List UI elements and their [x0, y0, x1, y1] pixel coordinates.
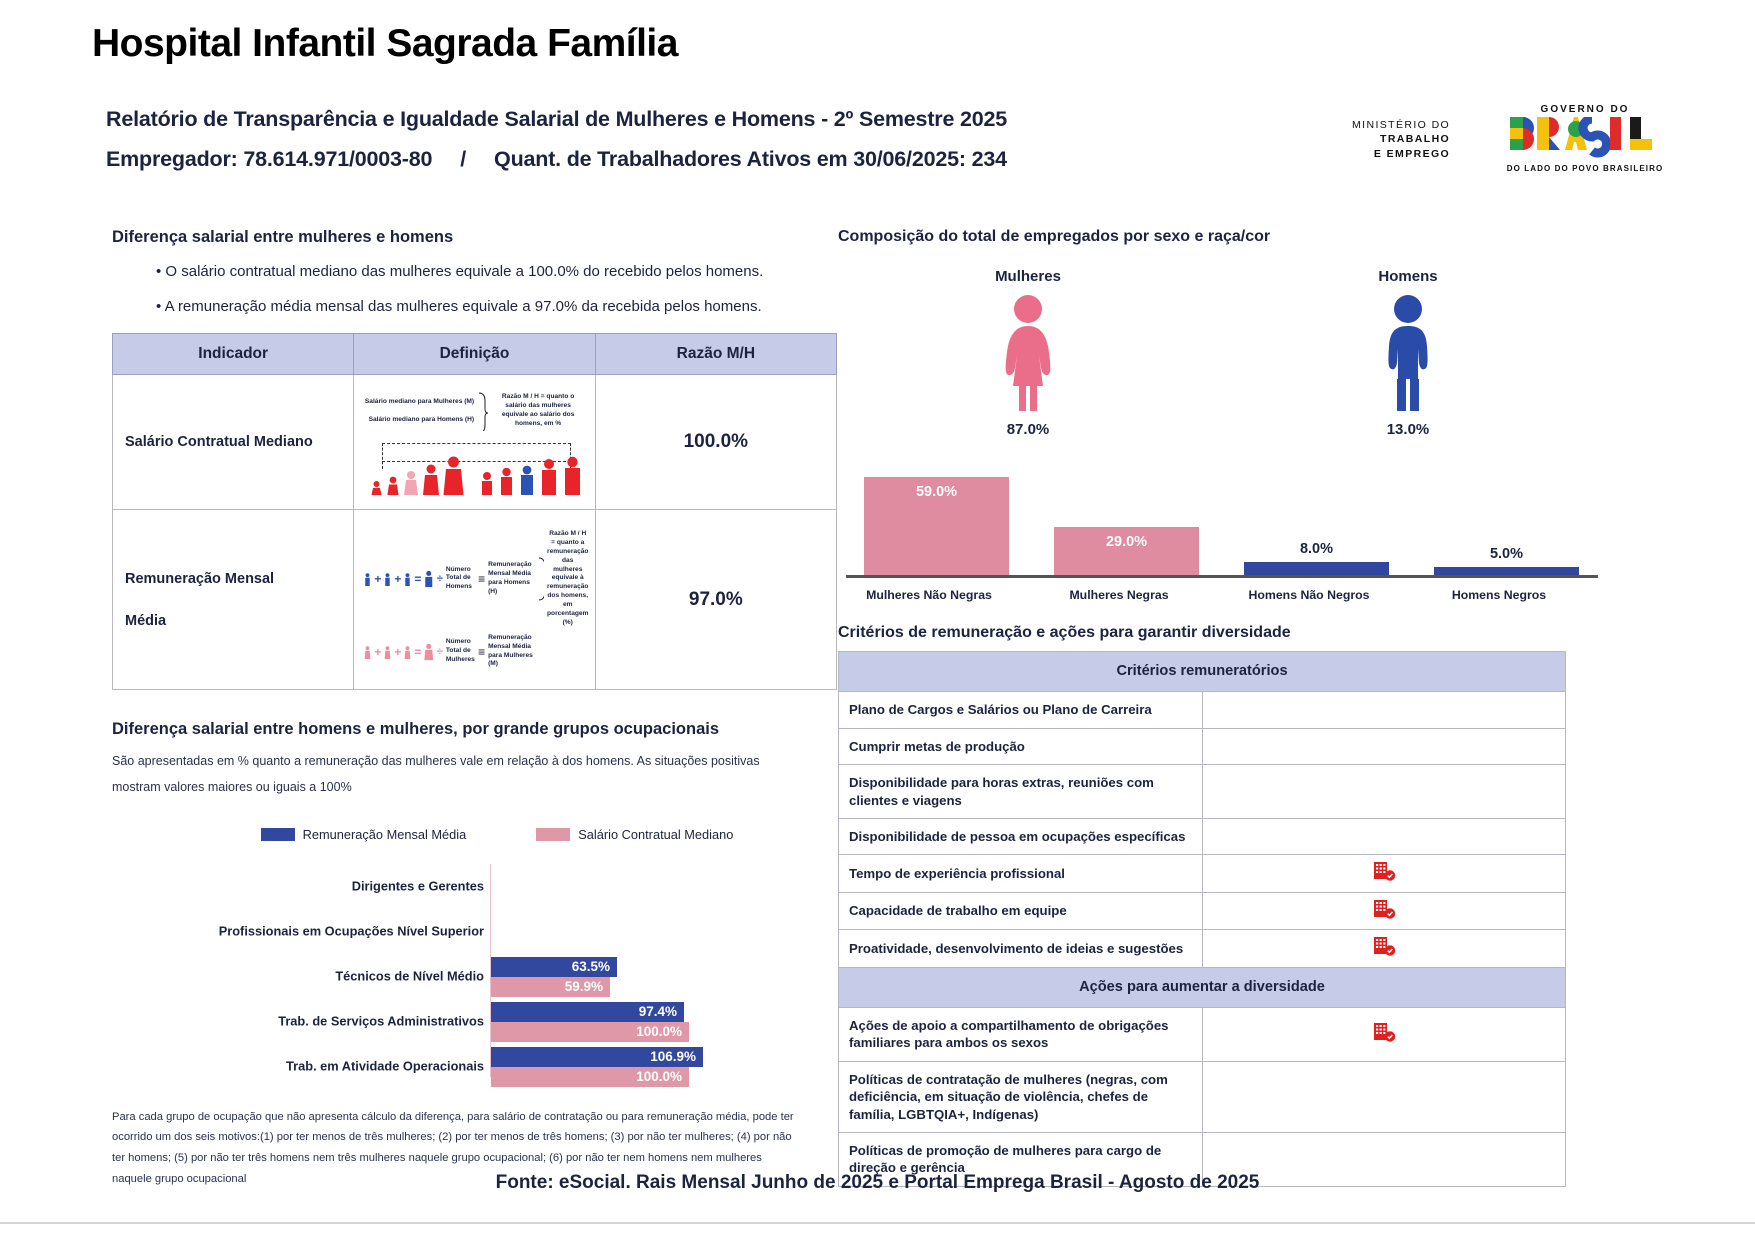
occ-bar-blue-operacionais: 106.9%: [491, 1047, 703, 1067]
criteria-mark-1: [1202, 728, 1566, 764]
col-razao: Razão M/H: [595, 334, 836, 375]
occ-group-administrativos: Trab. de Serviços Administrativos 97.4% …: [112, 999, 852, 1044]
table-row: Políticas de contratação de mulheres (ne…: [839, 1061, 1566, 1132]
building-check-icon: [1372, 859, 1396, 883]
report-title-line: Relatório de Transparência e Igualdade S…: [106, 107, 1186, 132]
occ-bar-blue-tecnicos: 63.5%: [491, 957, 617, 977]
race-bar-homens-nao-negros: 8.0%: [1244, 562, 1389, 575]
person-icon-woman: [370, 469, 383, 495]
active-workers: Quant. de Trabalhadores Ativos em 30/06/…: [494, 147, 1007, 171]
indicator-monthly-pay-line2: Média: [125, 613, 341, 629]
separator: /: [432, 147, 494, 172]
figure-women-pct: 87.0%: [838, 421, 1218, 438]
bullet-median-salary: O salário contratual mediano das mulhere…: [156, 263, 852, 280]
gov-logo-bottom-text: DO LADO DO POVO BRASILEIRO: [1500, 164, 1670, 173]
race-bar-homens-negros: 5.0%: [1434, 567, 1579, 575]
person-icon-man-highlight: [518, 447, 536, 495]
criteria-label-6: Proatividade, desenvolvimento de ideias …: [839, 930, 1203, 967]
definition-monthly-pay: + + = ÷ Número Total de Homens ≡ Remuner…: [354, 510, 595, 690]
definition-median-salary: Salário mediano para Mulheres (M) Salári…: [354, 375, 595, 510]
gov-logo-top-text: GOVERNO DO: [1500, 104, 1670, 115]
ministry-line-2: TRABALHO: [1352, 132, 1450, 146]
race-chart-plot: 59.0% 29.0% 8.0% 5.0%: [846, 478, 1598, 578]
person-icon-man: [404, 568, 411, 590]
occupational-note-line2: mostram valores maiores ou iguais a 100%: [112, 775, 852, 801]
criteria-label-0: Plano de Cargos e Salários ou Plano de C…: [839, 692, 1203, 728]
diversity-label-1: Políticas de contratação de mulheres (ne…: [839, 1061, 1203, 1132]
person-icon-woman: [404, 641, 411, 663]
table-row: Plano de Cargos e Salários ou Plano de C…: [839, 692, 1566, 728]
criteria-mark-2: [1202, 765, 1566, 819]
table-row: Capacidade de trabalho em equipe: [839, 892, 1566, 929]
composition-title: Composição do total de empregados por se…: [838, 228, 1598, 246]
table-row: Remuneração Mensal Média + + = ÷ Número …: [113, 510, 837, 690]
person-icon-man: [364, 568, 371, 590]
occupational-title: Diferença salarial entre homens e mulher…: [112, 720, 852, 739]
person-icon-woman-large: [424, 638, 434, 665]
indicator-median-salary: Salário Contratual Mediano: [113, 375, 354, 510]
woman-figure-icon: [995, 293, 1061, 411]
person-icon-man: [479, 455, 495, 495]
table-header-row: Indicador Definição Razão M/H: [113, 334, 837, 375]
diversity-header-row: Ações para aumentar a diversidade: [839, 967, 1566, 1007]
race-bar-mulheres-negras: 29.0%: [1054, 527, 1199, 575]
occ-bar-pink-operacionais: 100.0%: [491, 1067, 689, 1087]
brace-icon: [478, 391, 488, 431]
occ-group-profissionais: Profissionais em Ocupações Nível Superio…: [112, 909, 852, 954]
occupational-note-line1: São apresentadas em % quanto a remuneraç…: [112, 749, 852, 775]
person-icon-man: [562, 437, 583, 495]
person-icon-woman: [384, 641, 391, 663]
diversity-mark-0: [1202, 1007, 1566, 1061]
race-label-3: Homens Negros: [1424, 588, 1574, 602]
page-title: Hospital Infantil Sagrada Família: [92, 22, 678, 66]
race-bar-group-2: 8.0%: [1244, 562, 1389, 575]
race-bar-group-1: 29.0%: [1054, 527, 1199, 575]
indicator-definition-table: Indicador Definição Razão M/H Salário Co…: [112, 333, 837, 690]
figure-men-label: Homens: [1218, 268, 1598, 285]
occ-bar-pink-tecnicos: 59.9%: [491, 977, 610, 997]
ministry-line-3: E EMPREGO: [1352, 147, 1450, 161]
occupational-note: São apresentadas em % quanto a remuneraç…: [112, 749, 852, 800]
employer-cnpj: Empregador: 78.614.971/0003-80: [106, 147, 432, 171]
occ-label-profissionais: Profissionais em Ocupações Nível Superio…: [219, 924, 484, 939]
occupational-legend: Remuneração Mensal Média Salário Contrat…: [112, 827, 852, 842]
col-definicao: Definição: [354, 334, 595, 375]
composition-figures: Mulheres 87.0% Homens 13.0%: [838, 268, 1598, 438]
criteria-label-1: Cumprir metas de produção: [839, 728, 1203, 764]
criteria-label-5: Capacidade de trabalho em equipe: [839, 892, 1203, 929]
wage-gap-bullets: O salário contratual mediano das mulhere…: [112, 263, 852, 315]
figure-men: Homens 13.0%: [1218, 268, 1598, 438]
occ-label-administrativos: Trab. de Serviços Administrativos: [278, 1014, 484, 1029]
legend-item-mediano: Salário Contratual Mediano: [536, 827, 733, 842]
ministry-logo-text: MINISTÉRIO DO TRABALHO E EMPREGO: [1352, 118, 1450, 161]
indicator-monthly-pay-line1: Remuneração Mensal: [125, 571, 341, 587]
person-icon-woman-highlight: [403, 453, 419, 495]
occ-group-operacionais: Trab. em Atividade Operacionais 106.9% 1…: [112, 1044, 852, 1089]
ratio-monthly-pay: 97.0%: [595, 510, 836, 690]
brasil-wordmark-icon: [1510, 117, 1660, 161]
person-icon-woman: [386, 461, 400, 495]
criteria-mark-5: [1202, 892, 1566, 929]
race-bar-group-3: 5.0%: [1434, 567, 1579, 575]
figure-women-label: Mulheres: [838, 268, 1218, 285]
race-value-0: 59.0%: [864, 484, 1009, 500]
legend-swatch-pink-icon: [536, 828, 570, 841]
race-bar-group-0: 59.0%: [864, 477, 1009, 575]
governo-do-brasil-logo: GOVERNO DO DO LADO DO POVO BRASILEIRO: [1500, 104, 1670, 173]
figure-women: Mulheres 87.0%: [838, 268, 1218, 438]
occ-label-operacionais: Trab. em Atividade Operacionais: [286, 1059, 484, 1074]
table-row: Proatividade, desenvolvimento de ideias …: [839, 930, 1566, 967]
race-label-2: Homens Não Negros: [1234, 588, 1384, 602]
occ-bars-administrativos: 97.4% 100.0%: [491, 1002, 689, 1042]
occ-group-tecnicos: Técnicos de Nível Médio 63.5% 59.9%: [112, 954, 852, 999]
legend-item-media: Remuneração Mensal Média: [261, 827, 467, 842]
race-composition-chart: 59.0% 29.0% 8.0% 5.0% Mulheres Não Negra…: [838, 476, 1598, 604]
legend-label-media: Remuneração Mensal Média: [303, 827, 467, 842]
def-women-denominator: Número Total de Mulheres: [446, 638, 475, 665]
man-figure-icon: [1375, 293, 1441, 411]
criteria-header-row: Critérios remuneratórios: [839, 652, 1566, 692]
def-men-denominator: Número Total de Homens: [446, 566, 475, 593]
footer-divider: [0, 1222, 1755, 1224]
def-note-median: Razão M / H = quanto o salário das mulhe…: [492, 393, 584, 429]
person-icon-woman: [422, 445, 440, 495]
ratio-median-salary: 100.0%: [595, 375, 836, 510]
right-column: Composição do total de empregados por se…: [838, 228, 1598, 1187]
criteria-label-2: Disponibilidade para horas extras, reuni…: [839, 765, 1203, 819]
col-indicador: Indicador: [113, 334, 354, 375]
diversity-label-0: Ações de apoio a compartilhamento de obr…: [839, 1007, 1203, 1061]
def-line-women: Salário mediano para Mulheres (M): [365, 398, 474, 407]
figure-men-pct: 13.0%: [1218, 421, 1598, 438]
legend-label-mediano: Salário Contratual Mediano: [578, 827, 733, 842]
criteria-label-4: Tempo de experiência profissional: [839, 855, 1203, 892]
criteria-mark-0: [1202, 692, 1566, 728]
race-value-3: 5.0%: [1434, 546, 1579, 562]
person-icon-man-large: [424, 565, 434, 592]
brace-icon: [538, 556, 544, 602]
indicator-monthly-pay: Remuneração Mensal Média: [113, 510, 354, 690]
employer-line: Empregador: 78.614.971/0003-80/Quant. de…: [106, 147, 1186, 172]
def-women-result: Remuneração Mensal Média para Mulheres (…: [488, 634, 535, 670]
occ-bar-pink-administrativos: 100.0%: [491, 1022, 689, 1042]
criteria-mark-6: [1202, 930, 1566, 967]
occ-label-dirigentes: Dirigentes e Gerentes: [352, 879, 484, 894]
report-subheader: Relatório de Transparência e Igualdade S…: [106, 107, 1186, 172]
criteria-label-3: Disponibilidade de pessoa em ocupações e…: [839, 818, 1203, 854]
occ-label-tecnicos: Técnicos de Nível Médio: [335, 969, 484, 984]
occ-bars-tecnicos: 63.5% 59.9%: [491, 957, 617, 997]
person-icon-woman: [443, 437, 464, 495]
criteria-mark-3: [1202, 818, 1566, 854]
table-row: Salário Contratual Mediano Salário media…: [113, 375, 837, 510]
table-row: Ações de apoio a compartilhamento de obr…: [839, 1007, 1566, 1061]
occ-group-dirigentes: Dirigentes e Gerentes: [112, 864, 852, 909]
diversity-mark-1: [1202, 1061, 1566, 1132]
criteria-header-remuneratorios: Critérios remuneratórios: [839, 652, 1566, 692]
criteria-mark-4: [1202, 855, 1566, 892]
person-icon-woman: [364, 641, 371, 663]
race-value-2: 8.0%: [1244, 541, 1389, 557]
table-row: Tempo de experiência profissional: [839, 855, 1566, 892]
source-footer: Fonte: eSocial. Rais Mensal Junho de 202…: [0, 1172, 1755, 1194]
race-label-0: Mulheres Não Negras: [854, 588, 1004, 602]
left-column: Diferença salarial entre mulheres e home…: [112, 228, 852, 1189]
def-note-monthly: Razão M / H = quanto a remuneração das m…: [547, 530, 589, 628]
person-icon-man: [384, 568, 391, 590]
occ-bar-blue-administrativos: 97.4%: [491, 1002, 684, 1022]
criteria-table: Critérios remuneratórios Plano de Cargos…: [838, 651, 1566, 1187]
building-check-icon: [1372, 897, 1396, 921]
race-label-1: Mulheres Negras: [1044, 588, 1194, 602]
table-row: Cumprir metas de produção: [839, 728, 1566, 764]
criteria-title: Critérios de remuneração e ações para ga…: [838, 624, 1598, 642]
building-check-icon: [1372, 1020, 1396, 1044]
ministry-line-1: MINISTÉRIO DO: [1352, 118, 1450, 132]
table-row: Disponibilidade de pessoa em ocupações e…: [839, 818, 1566, 854]
table-row: Disponibilidade para horas extras, reuni…: [839, 765, 1566, 819]
person-icon-man: [539, 440, 559, 495]
occupational-bar-chart: Dirigentes e Gerentes Profissionais em O…: [112, 864, 852, 1089]
occ-bars-operacionais: 106.9% 100.0%: [491, 1047, 703, 1087]
building-check-icon: [1372, 934, 1396, 958]
race-bar-mulheres-nao-negras: 59.0%: [864, 477, 1009, 575]
bullet-average-pay: A remuneração média mensal das mulheres …: [156, 298, 852, 315]
criteria-header-diversidade: Ações para aumentar a diversidade: [839, 967, 1566, 1007]
race-value-1: 29.0%: [1054, 534, 1199, 550]
wage-gap-title: Diferença salarial entre mulheres e home…: [112, 228, 852, 247]
legend-swatch-blue-icon: [261, 828, 295, 841]
race-chart-baseline: [846, 575, 1598, 578]
def-line-men: Salário mediano para Homens (H): [365, 416, 474, 425]
person-icon-man: [498, 449, 515, 495]
def-men-result: Remuneração Mensal Média para Homens (H): [488, 561, 535, 597]
